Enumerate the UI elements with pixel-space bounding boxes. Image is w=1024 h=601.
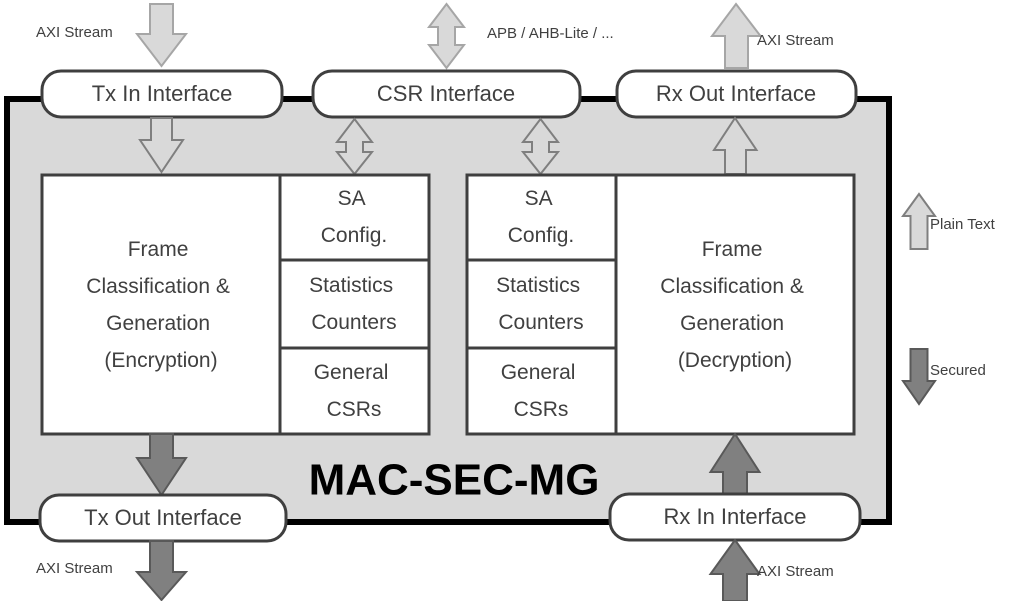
tx-statistics-counters-block[interactable]: Statistics Counters [280, 260, 429, 348]
interface-tx-out[interactable]: Tx Out Interface [40, 495, 286, 541]
legend-secured-label: Secured [930, 362, 986, 379]
rx-sa-line-0: SA [525, 187, 553, 210]
interface-rx-in-label: Rx In Interface [663, 504, 806, 529]
tx-sa-line-0: SA [338, 187, 366, 210]
arrow-csr-bus [429, 4, 464, 68]
chip-title: MAC-SEC-MG [309, 456, 600, 505]
rx-general-csrs-block[interactable]: General CSRs [467, 348, 616, 434]
legend-plain-text-label: Plain Text [930, 216, 996, 233]
arrow-tx-in-axi [137, 4, 186, 66]
block-diagram: AXI Stream APB / AHB-Lite / ... AXI Stre… [0, 0, 1024, 601]
tx-stats-line-1: Counters [311, 311, 396, 334]
label-csr-bus: APB / AHB-Lite / ... [487, 25, 614, 42]
rx-main-line-1: Classification & [660, 275, 804, 298]
arrow-tx-out-axi [137, 541, 186, 600]
tx-main-line-0: Frame [128, 238, 189, 261]
tx-gcsr-line-0: General [314, 361, 389, 384]
rx-main-line-2: Generation [680, 312, 784, 335]
interface-tx-in-label: Tx In Interface [92, 81, 233, 106]
rx-main-line-0: Frame [702, 238, 763, 261]
label-tx-in-bus: AXI Stream [36, 24, 113, 41]
rx-gcsr-line-0: General [501, 361, 576, 384]
interface-csr[interactable]: CSR Interface [313, 71, 580, 117]
arrow-rx-in-axi [711, 540, 760, 601]
tx-general-csrs-block[interactable]: General CSRs [280, 348, 429, 434]
tx-gcsr-line-1: CSRs [327, 398, 382, 421]
rx-sa-config-block[interactable]: SA Config. [467, 175, 616, 260]
tx-main-line-2: Generation [106, 312, 210, 335]
label-rx-in-bus: AXI Stream [757, 563, 834, 580]
interface-tx-in[interactable]: Tx In Interface [42, 71, 282, 117]
tx-main-block[interactable]: Frame Classification & Generation (Encry… [42, 175, 280, 434]
interface-tx-out-label: Tx Out Interface [84, 505, 242, 530]
rx-stats-line-1: Counters [498, 311, 583, 334]
tx-main-line-1: Classification & [86, 275, 230, 298]
rx-stats-line-0: Statistics [496, 274, 580, 297]
rx-statistics-counters-block[interactable]: Statistics Counters [467, 260, 616, 348]
rx-sa-line-1: Config. [508, 224, 575, 247]
label-tx-out-bus: AXI Stream [36, 560, 113, 577]
legend-secured: Secured [903, 349, 986, 404]
rx-gcsr-line-1: CSRs [514, 398, 569, 421]
tx-stats-line-0: Statistics [309, 274, 393, 297]
interface-rx-out[interactable]: Rx Out Interface [617, 71, 856, 117]
interface-rx-in[interactable]: Rx In Interface [610, 494, 860, 540]
rx-main-line-3: (Decryption) [678, 349, 792, 372]
legend-plain-text: Plain Text [903, 194, 996, 249]
tx-sa-line-1: Config. [321, 224, 388, 247]
arrow-rx-out-axi [712, 4, 761, 68]
rx-main-block[interactable]: Frame Classification & Generation (Decry… [616, 175, 854, 434]
interface-csr-label: CSR Interface [377, 81, 515, 106]
label-rx-out-bus: AXI Stream [757, 32, 834, 49]
tx-main-line-3: (Encryption) [104, 349, 217, 372]
tx-sa-config-block[interactable]: SA Config. [280, 175, 429, 260]
interface-rx-out-label: Rx Out Interface [656, 81, 816, 106]
diagram-canvas: AXI Stream APB / AHB-Lite / ... AXI Stre… [0, 0, 1024, 601]
